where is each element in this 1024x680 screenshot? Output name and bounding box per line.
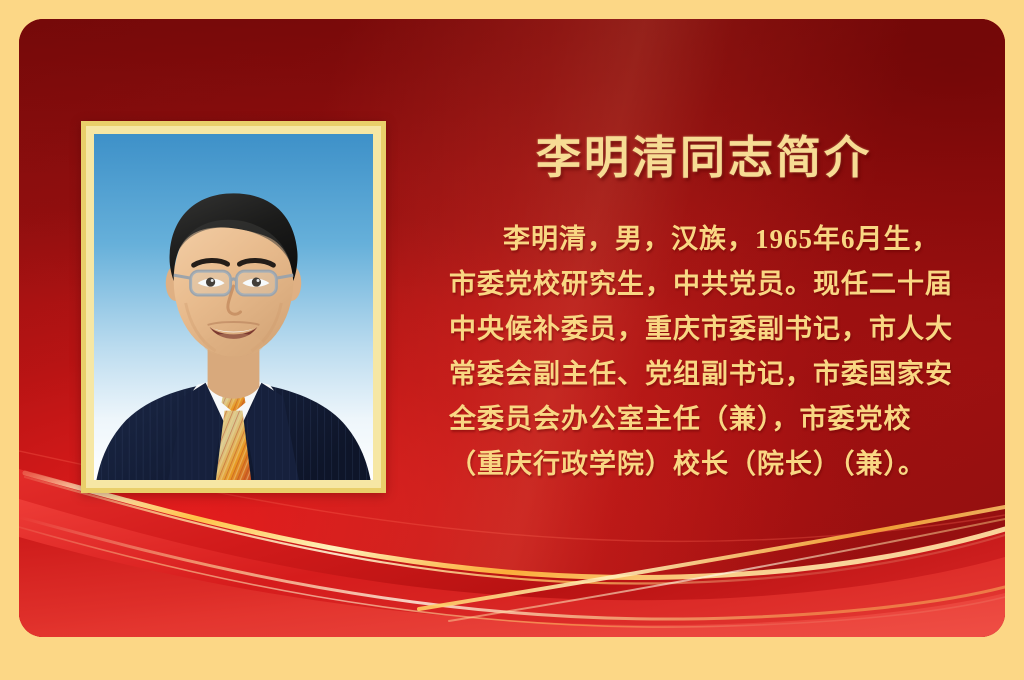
content-column: 李明清同志简介 李明清，男，汉族，1965年6月生， 市委党校研究生，中共党员。… <box>419 114 989 487</box>
biography-text: 李明清，男，汉族，1965年6月生， 市委党校研究生，中共党员。现任二十届 中央… <box>419 217 989 487</box>
portrait-frame-inner <box>86 126 381 488</box>
poster: 李明清同志简介 李明清，男，汉族，1965年6月生， 市委党校研究生，中共党员。… <box>0 0 1024 680</box>
biography-line: 常委会副主任、党组副书记，市委国家安 <box>449 352 981 397</box>
biography-line: 中央候补委员，重庆市委副书记，市人大 <box>449 307 981 352</box>
portrait-illustration <box>94 134 373 480</box>
page-title: 李明清同志简介 <box>419 114 989 181</box>
biography-line: 市委党校研究生，中共党员。现任二十届 <box>449 262 981 307</box>
biography-line: 李明清，男，汉族，1965年6月生， <box>449 217 981 262</box>
portrait-frame <box>81 121 386 493</box>
biography-line: （重庆行政学院）校长（院长）（兼）。 <box>449 442 981 487</box>
red-panel: 李明清同志简介 李明清，男，汉族，1965年6月生， 市委党校研究生，中共党员。… <box>19 19 1005 637</box>
portrait-photo <box>94 134 373 480</box>
biography-line: 全委员会办公室主任（兼），市委党校 <box>449 397 981 442</box>
